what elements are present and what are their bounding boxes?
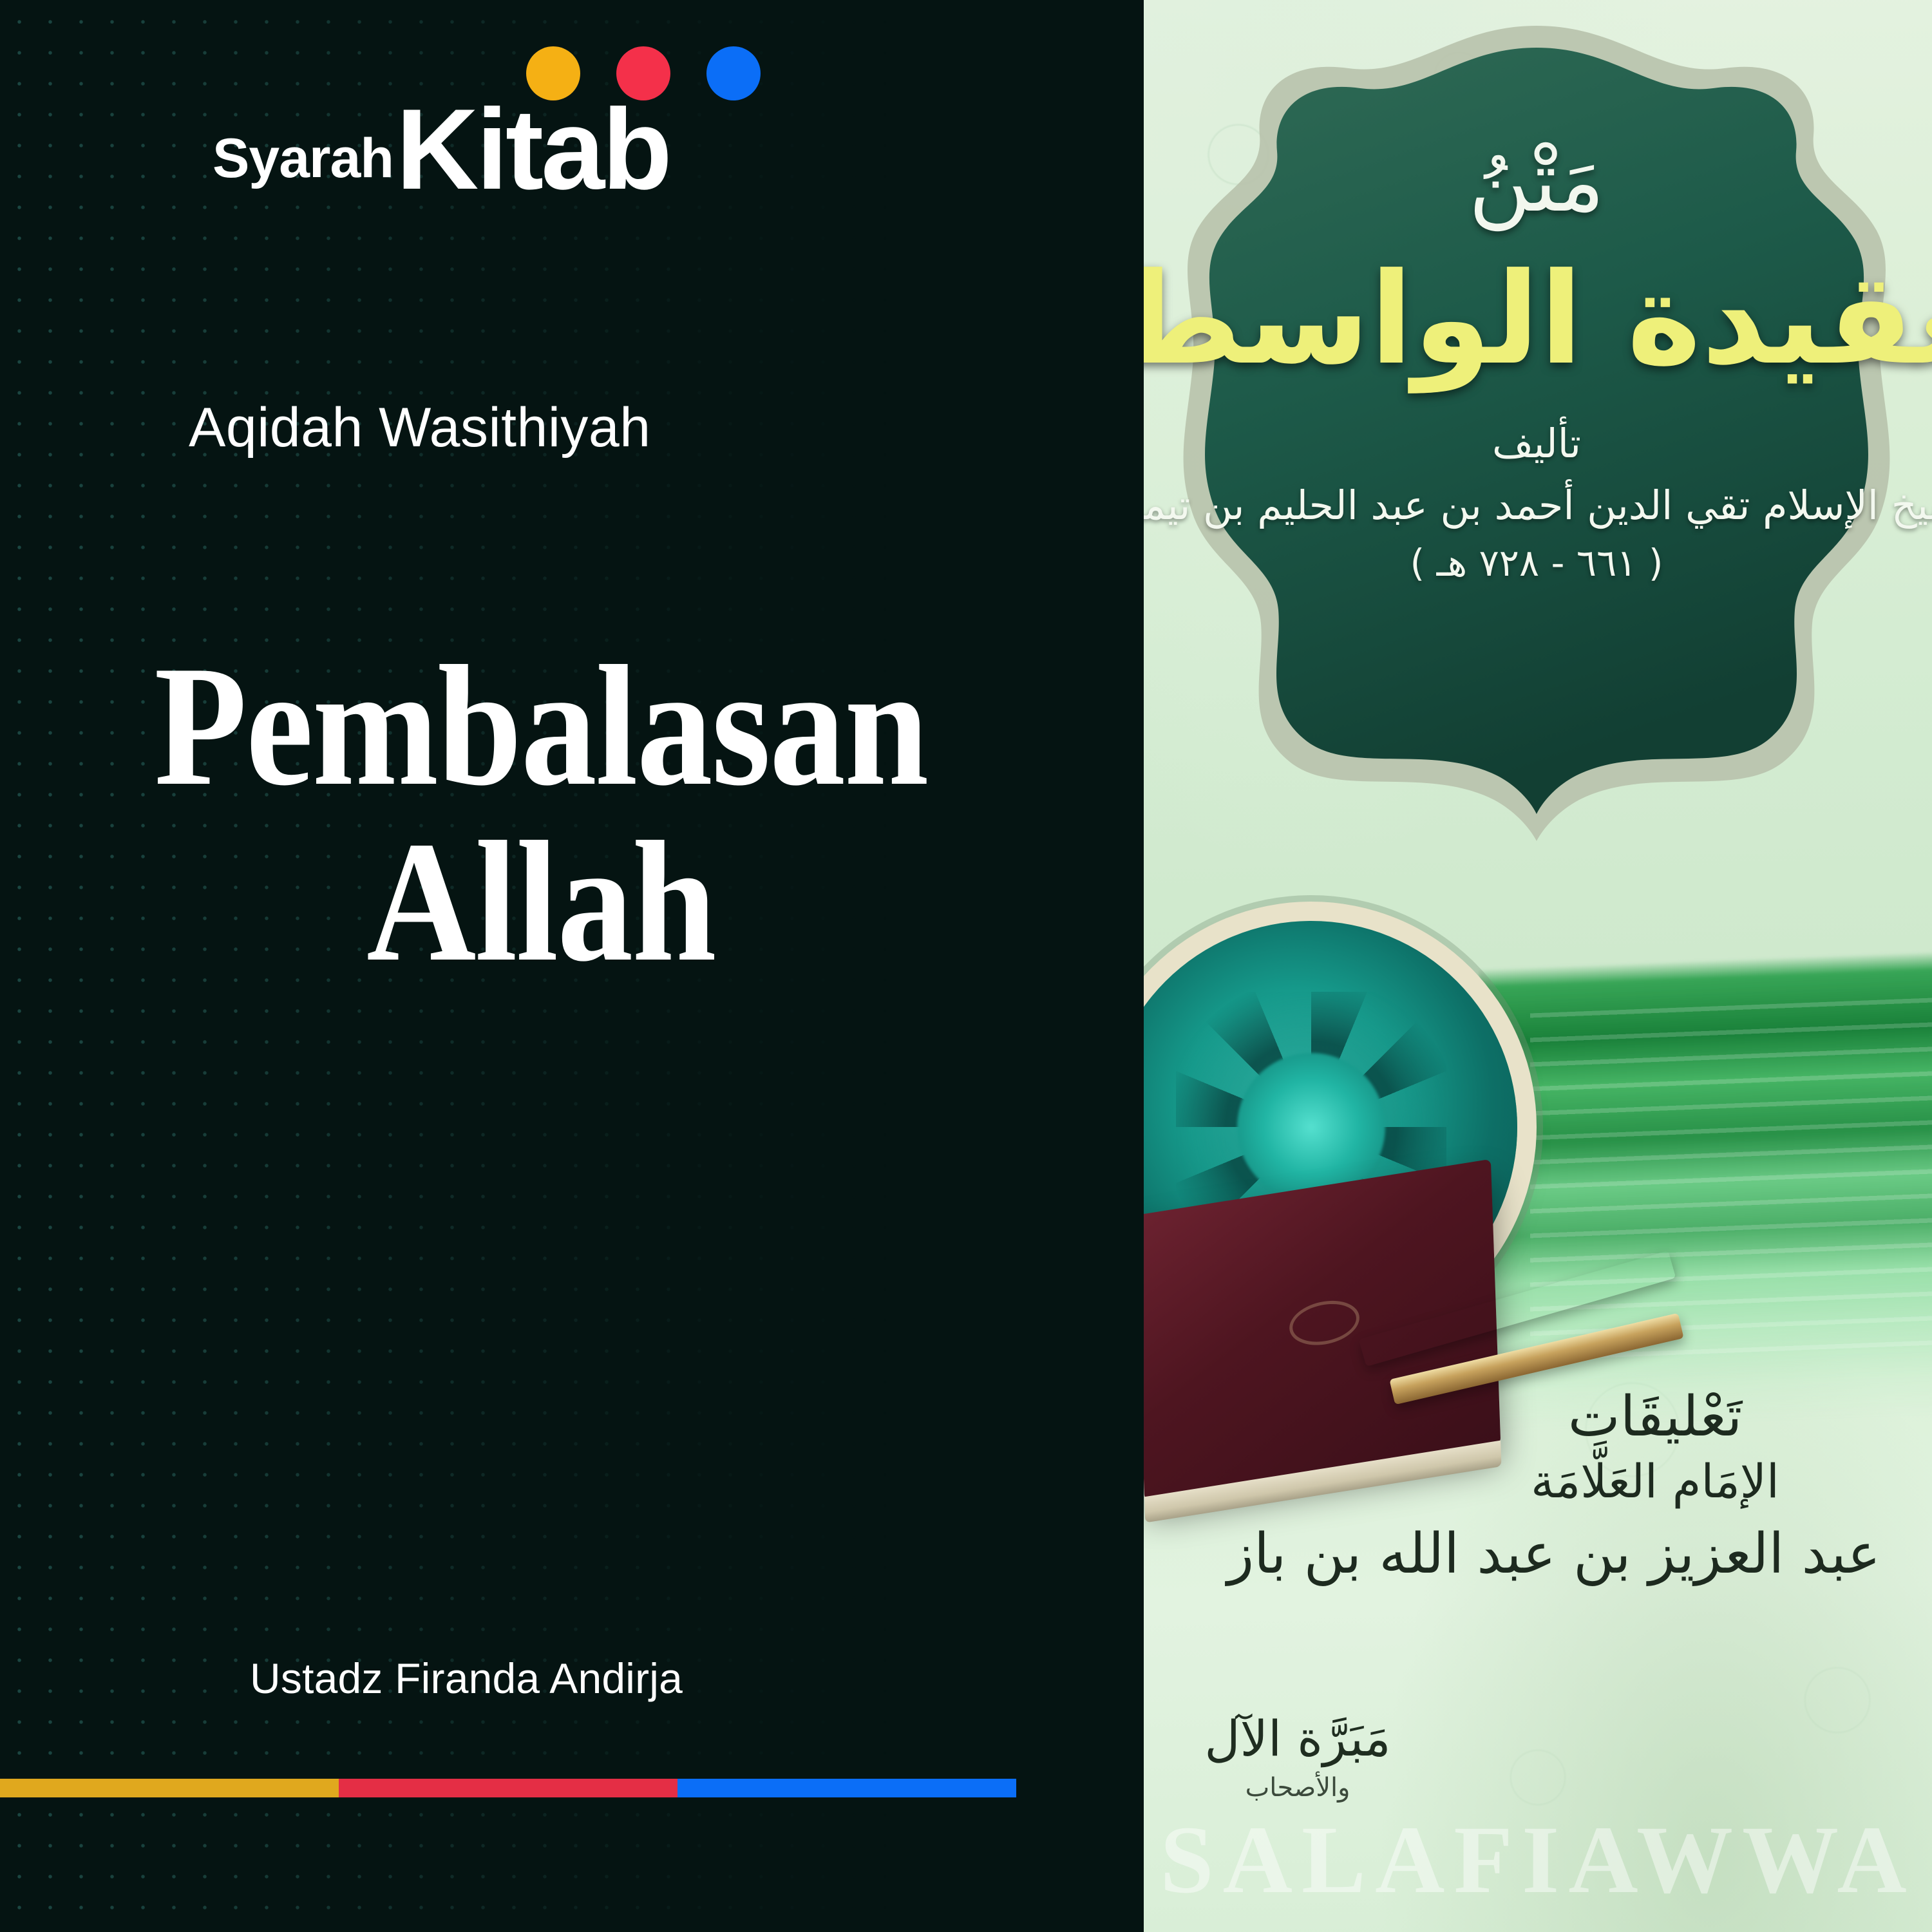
book-cover-image: مَتْنُ العقيدة الواسطية تأليف شيخ الإسلا…: [1144, 0, 1932, 1932]
green-banner-highlights: [1530, 996, 1932, 1374]
book-annotations-block: تَعْليقَات الإمَام العَلَّامَة عبد العزي…: [1430, 1385, 1880, 1587]
publisher-line-2: والأصحاب: [1159, 1772, 1436, 1803]
title-cartouche: مَتْنُ العقيدة الواسطية تأليف شيخ الإسلا…: [1170, 18, 1904, 849]
quran-cover-emblem: [1289, 1296, 1360, 1350]
accent-bar: [0, 1779, 1016, 1797]
annotations-line-1: تَعْليقَات: [1430, 1385, 1880, 1450]
logo-text-syarah: Syarah: [213, 131, 393, 200]
page-title: Pembalasan Allah: [65, 638, 1017, 990]
logo-wordmark: Syarah Kitab: [213, 99, 670, 200]
content-panel: Syarah Kitab Aqidah Wasithiyah Pembalasa…: [0, 0, 1144, 1932]
cartouche-inner-panel: [1170, 18, 1904, 849]
accent-bar-yellow: [0, 1779, 339, 1797]
annotations-line-3: عبد العزيز بن عبد الله بن باز: [1430, 1521, 1880, 1587]
series-title: Aqidah Wasithiyah: [189, 396, 651, 460]
publisher-line-1: مَبَرَّة الآل: [1159, 1712, 1436, 1766]
book-publisher-block: مَبَرَّة الآل والأصحاب: [1159, 1712, 1436, 1803]
brand-logo[interactable]: Syarah Kitab: [213, 28, 857, 241]
accent-bar-red: [339, 1779, 677, 1797]
speaker-name: Ustadz Firanda Andirja: [250, 1654, 683, 1703]
logo-dot-blue: [706, 46, 761, 100]
slide-canvas: مَتْنُ العقيدة الواسطية تأليف شيخ الإسلا…: [0, 0, 1932, 1932]
logo-text-kitab: Kitab: [396, 99, 670, 200]
accent-bar-blue: [677, 1779, 1016, 1797]
annotations-line-2: الإمَام العَلَّامَة: [1430, 1454, 1880, 1509]
